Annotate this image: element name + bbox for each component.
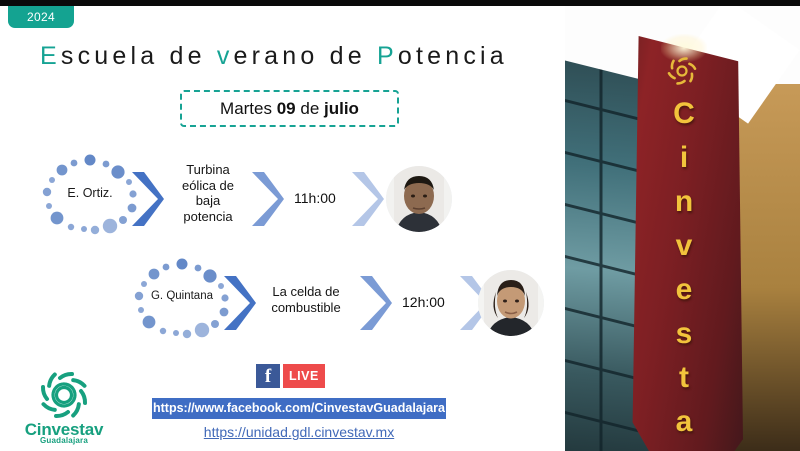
- logo-sublabel: Guadalajara: [10, 436, 118, 445]
- facebook-glyph: f: [265, 367, 271, 386]
- title-seg-2: erano de: [234, 42, 377, 70]
- facebook-url-bar[interactable]: https://www.facebook.com/CinvestavGuadal…: [152, 398, 446, 419]
- year-badge: 2024: [8, 6, 74, 28]
- topic-line: La celda de: [258, 284, 354, 300]
- speaker-dot-ring-1: E. Ortiz.: [38, 148, 142, 248]
- chevron-2a: [220, 274, 258, 332]
- cinvestav-logo: Cinvestav Guadalajara: [10, 370, 118, 448]
- speaker-name-1: E. Ortiz.: [38, 186, 142, 200]
- title-letter-p: P: [377, 42, 398, 70]
- chevron-1a: [128, 170, 166, 228]
- sign-letter: v: [661, 224, 707, 268]
- facebook-live-badge[interactable]: f LIVE: [256, 364, 325, 388]
- presentation-slide: 2024 Escuela de verano de Potencia Marte…: [0, 0, 800, 451]
- talk-topic-1: Turbina eólica de baja potencia: [170, 162, 246, 224]
- speaker-photo-2: [478, 270, 544, 336]
- topic-line: Turbina: [170, 162, 246, 178]
- chevron-1c: [348, 170, 386, 228]
- talk-time-2: 12h:00: [402, 294, 445, 310]
- page-title: Escuela de verano de Potencia: [40, 42, 540, 71]
- sign-letter: C: [661, 92, 707, 136]
- topic-line: potencia: [170, 209, 246, 225]
- talk-time-1: 11h:00: [294, 190, 336, 206]
- chevron-2b: [356, 274, 394, 332]
- dot-ring-icon: [130, 252, 234, 352]
- cinvestav-emblem-icon: [10, 370, 118, 420]
- sign-vertical-text: C i n v e s t a v: [661, 92, 707, 451]
- topic-line: combustible: [258, 300, 354, 316]
- sign-letter: s: [661, 312, 707, 356]
- photo-side-wall: [734, 84, 800, 451]
- title-seg-3: otencia: [398, 42, 508, 70]
- site-url-link[interactable]: https://unidad.gdl.cinvestav.mx: [152, 424, 446, 440]
- date-prefix: Martes: [220, 99, 277, 118]
- live-label: LIVE: [289, 369, 319, 383]
- sign-letter: v: [661, 444, 707, 451]
- speaker-name-2: G. Quintana: [130, 290, 234, 302]
- speaker-photo-1: [386, 166, 452, 232]
- sign-letter: n: [661, 180, 707, 224]
- date-badge: Martes 09 de julio: [180, 90, 399, 127]
- title-seg-1: scuela de: [61, 42, 217, 70]
- topic-line: baja: [170, 193, 246, 209]
- facebook-icon[interactable]: f: [256, 364, 280, 388]
- title-letter-v: v: [217, 42, 234, 70]
- live-badge: LIVE: [283, 364, 325, 388]
- talk-topic-2: La celda de combustible: [258, 284, 354, 315]
- date-month: julio: [324, 99, 359, 118]
- sign-letter: t: [661, 356, 707, 400]
- sign-letter: a: [661, 400, 707, 444]
- building-photo: C i n v e s t a v: [565, 6, 800, 451]
- sign-emblem-icon: [661, 56, 703, 86]
- speaker-dot-ring-2: G. Quintana: [130, 252, 234, 352]
- sign-letter: e: [661, 268, 707, 312]
- chevron-1b: [248, 170, 286, 228]
- topic-line: eólica de: [170, 178, 246, 194]
- date-day: 09: [277, 99, 296, 118]
- title-letter-e: E: [40, 42, 61, 70]
- date-mid: de: [296, 99, 324, 118]
- sign-letter: i: [661, 136, 707, 180]
